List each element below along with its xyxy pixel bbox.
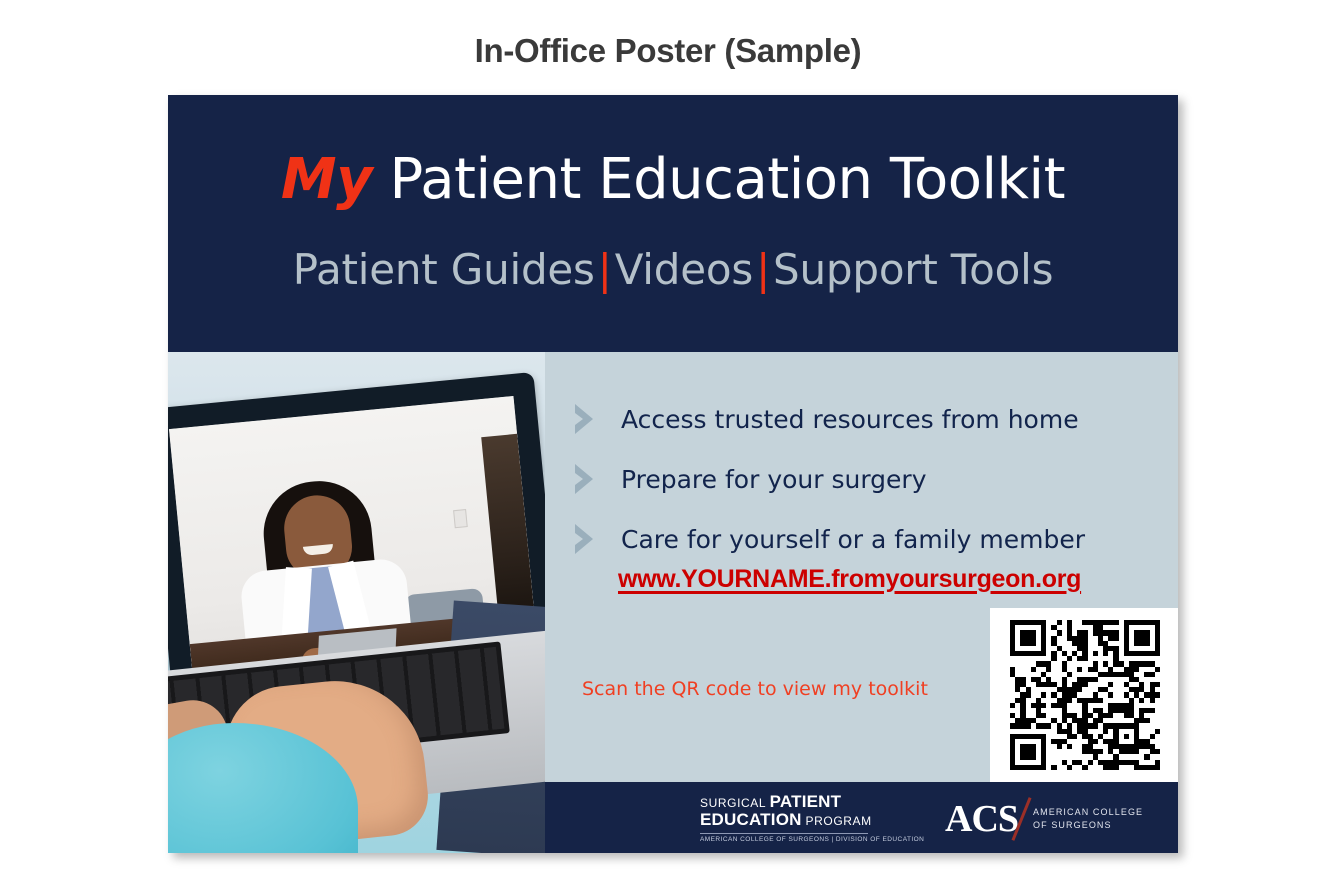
- acs-subtitle-line-1: AMERICAN COLLEGE: [1033, 806, 1143, 819]
- poster-image: My Patient Education Toolkit Patient Gui…: [168, 95, 1178, 853]
- poster-headline: My Patient Education Toolkit: [168, 147, 1178, 212]
- spep-divider: [700, 833, 868, 834]
- chevron-right-icon: [571, 462, 599, 496]
- chevron-right-icon: [571, 522, 599, 556]
- headline-main-text: Patient Education Toolkit: [372, 147, 1065, 212]
- poster-subheadline: Patient Guides|Videos|Support Tools: [168, 245, 1178, 294]
- subhead-item-videos: Videos: [615, 245, 753, 294]
- screen-light-switch: [453, 509, 468, 528]
- patient-laptop-photo: [168, 352, 545, 853]
- spep-word-patient: PATIENT: [770, 792, 842, 811]
- surgical-patient-education-program-logo: SURGICAL PATIENT EDUCATION PROGRAM AMERI…: [700, 793, 924, 843]
- scan-instruction-text: Scan the QR code to view my toolkit: [582, 678, 928, 700]
- spep-logo-line-2: EDUCATION PROGRAM: [700, 811, 924, 829]
- headline-accent-word: My: [281, 147, 372, 212]
- page-title: In-Office Poster (Sample): [0, 32, 1336, 70]
- subhead-item-support-tools: Support Tools: [773, 245, 1053, 294]
- qr-code-panel: [990, 608, 1178, 782]
- acs-logo: ACS AMERICAN COLLEGE OF SURGEONS: [945, 796, 1143, 842]
- acs-logo-subtitle: AMERICAN COLLEGE OF SURGEONS: [1033, 806, 1143, 832]
- poster-footer: SURGICAL PATIENT EDUCATION PROGRAM AMERI…: [545, 782, 1178, 853]
- slide-canvas: In-Office Poster (Sample) My Patient Edu…: [0, 0, 1336, 892]
- spep-word-program: PROGRAM: [806, 814, 872, 828]
- benefit-text: Access trusted resources from home: [621, 405, 1079, 434]
- spep-word-surgical: SURGICAL: [700, 796, 766, 810]
- acs-wordmark: ACS: [945, 800, 1018, 838]
- toolkit-url-link[interactable]: www.YOURNAME.fromyoursurgeon.org: [618, 565, 1081, 594]
- qr-code[interactable]: [1010, 620, 1160, 770]
- benefit-text: Prepare for your surgery: [621, 465, 927, 494]
- spep-word-education: EDUCATION: [700, 810, 802, 829]
- benefit-list: Access trusted resources from home Prepa…: [571, 389, 1171, 569]
- acs-subtitle-line-2: OF SURGEONS: [1033, 819, 1143, 832]
- list-item: Access trusted resources from home: [571, 389, 1171, 449]
- spep-logo-line-1: SURGICAL PATIENT: [700, 793, 924, 811]
- list-item: Care for yourself or a family member: [571, 509, 1171, 569]
- chevron-right-icon: [571, 402, 599, 436]
- subhead-item-guides: Patient Guides: [293, 245, 595, 294]
- benefit-text: Care for yourself or a family member: [621, 525, 1085, 554]
- poster-header: My Patient Education Toolkit Patient Gui…: [168, 95, 1178, 352]
- spep-logo-subtitle: AMERICAN COLLEGE OF SURGEONS | DIVISION …: [700, 836, 924, 843]
- list-item: Prepare for your surgery: [571, 449, 1171, 509]
- subhead-separator-1: |: [595, 245, 615, 294]
- subhead-separator-2: |: [753, 245, 773, 294]
